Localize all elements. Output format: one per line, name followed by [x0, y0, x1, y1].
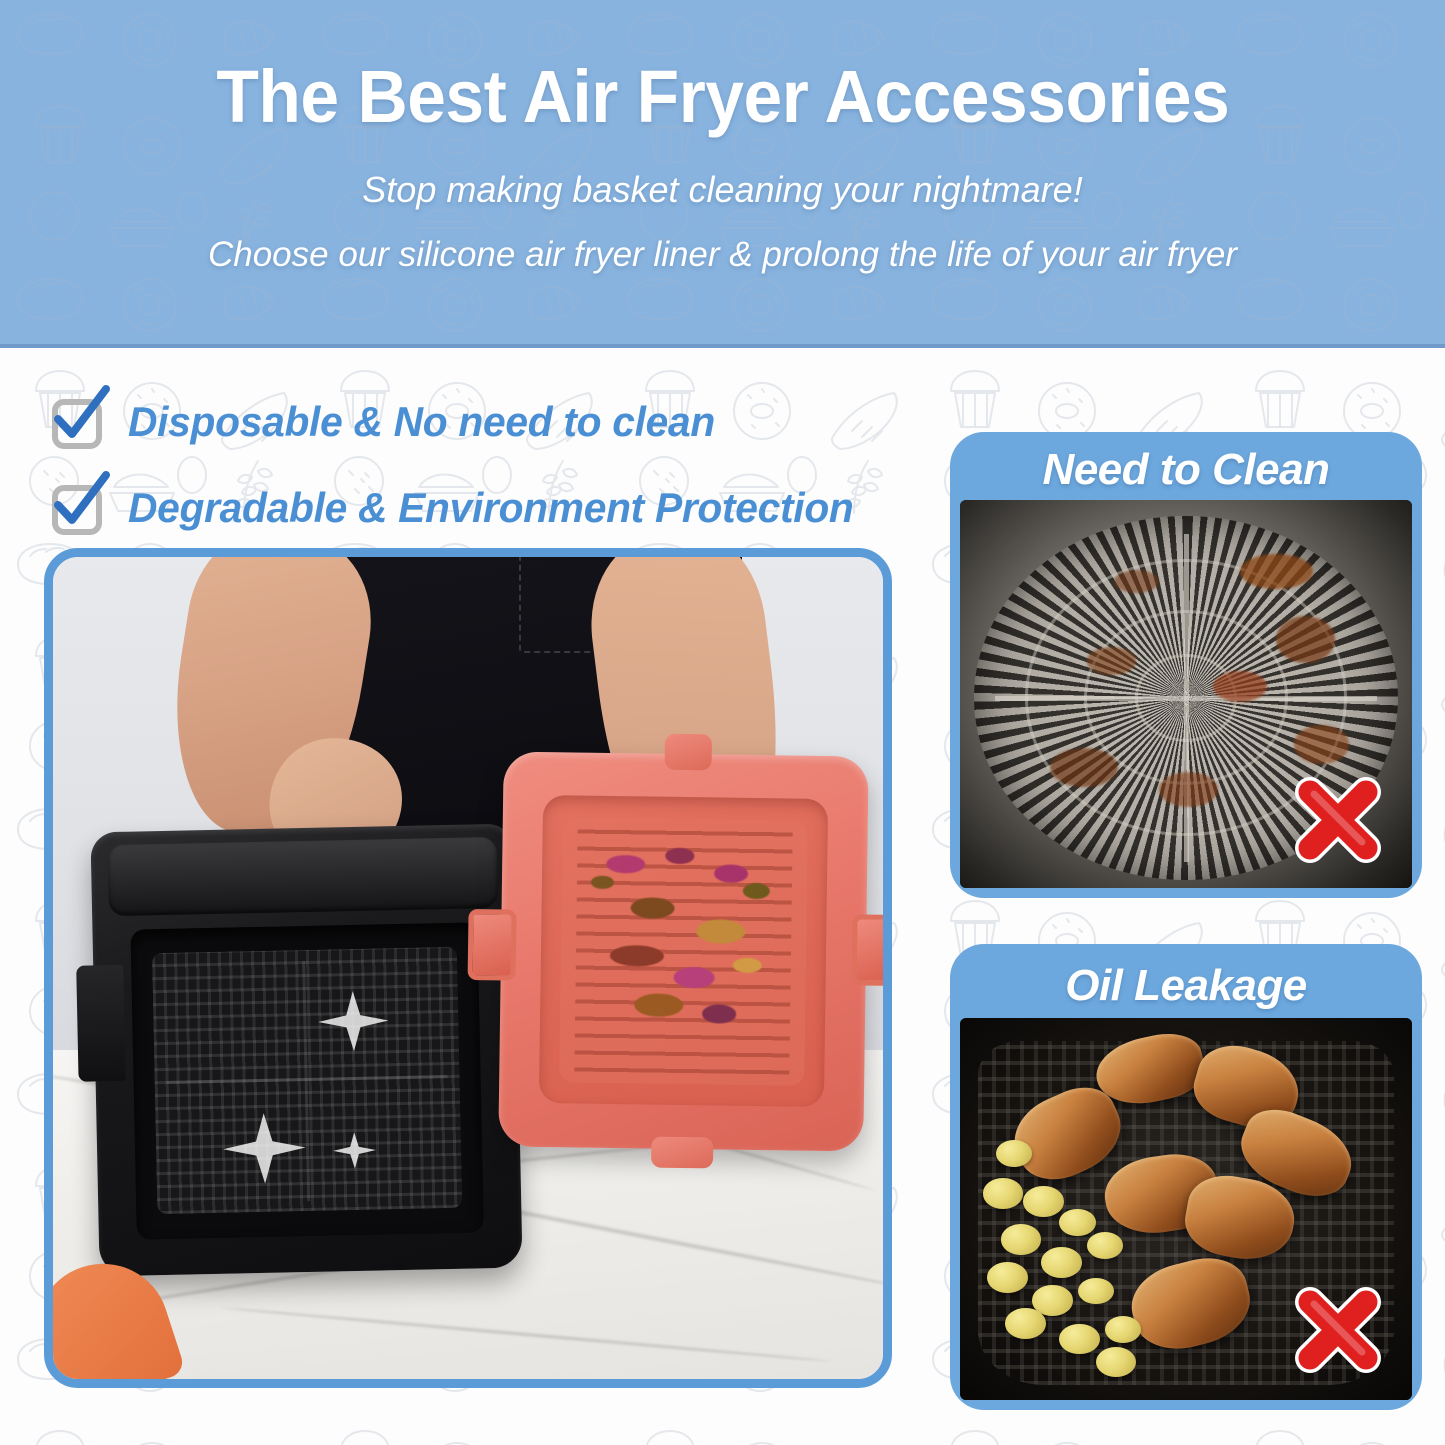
red-x-icon: [1290, 772, 1386, 868]
checkbox-checked-icon: [48, 393, 106, 451]
product-scene: [53, 557, 883, 1379]
main-product-photo: [44, 548, 892, 1388]
panel-label: Need to Clean: [950, 436, 1422, 504]
panel-label: Oil Leakage: [950, 952, 1422, 1020]
red-x-icon: [1290, 1282, 1386, 1378]
benefit-item-disposable: Disposable & No need to clean: [48, 386, 948, 458]
benefit-item-degradable: Degradable & Environment Protection: [48, 472, 948, 544]
pink-silicone-liner: [498, 752, 869, 1152]
checkbox-checked-icon: [48, 479, 106, 537]
black-air-fryer-basket: [90, 824, 522, 1277]
dirty-basket-photo: [960, 500, 1412, 888]
comparison-panel-need-to-clean: Need to Clean: [950, 432, 1422, 898]
header-subtitle-1: Stop making basket cleaning your nightma…: [362, 169, 1082, 211]
benefit-label: Degradable & Environment Protection: [128, 484, 854, 532]
header-banner: The Best Air Fryer Accessories Stop maki…: [0, 0, 1445, 348]
oily-wings-photo: [960, 1018, 1412, 1400]
check-mark-glyph: [46, 467, 116, 537]
header-subtitle-2: Choose our silicone air fryer liner & pr…: [208, 235, 1237, 275]
benefit-label: Disposable & No need to clean: [128, 398, 715, 446]
product-infographic: The Best Air Fryer Accessories Stop maki…: [0, 0, 1445, 1445]
comparison-panel-oil-leakage: Oil Leakage: [950, 944, 1422, 1410]
benefits-list: Disposable & No need to clean Degradable…: [48, 386, 948, 544]
check-mark-glyph: [46, 381, 116, 451]
page-title: The Best Air Fryer Accessories: [216, 54, 1229, 139]
header-divider: [0, 344, 1445, 348]
